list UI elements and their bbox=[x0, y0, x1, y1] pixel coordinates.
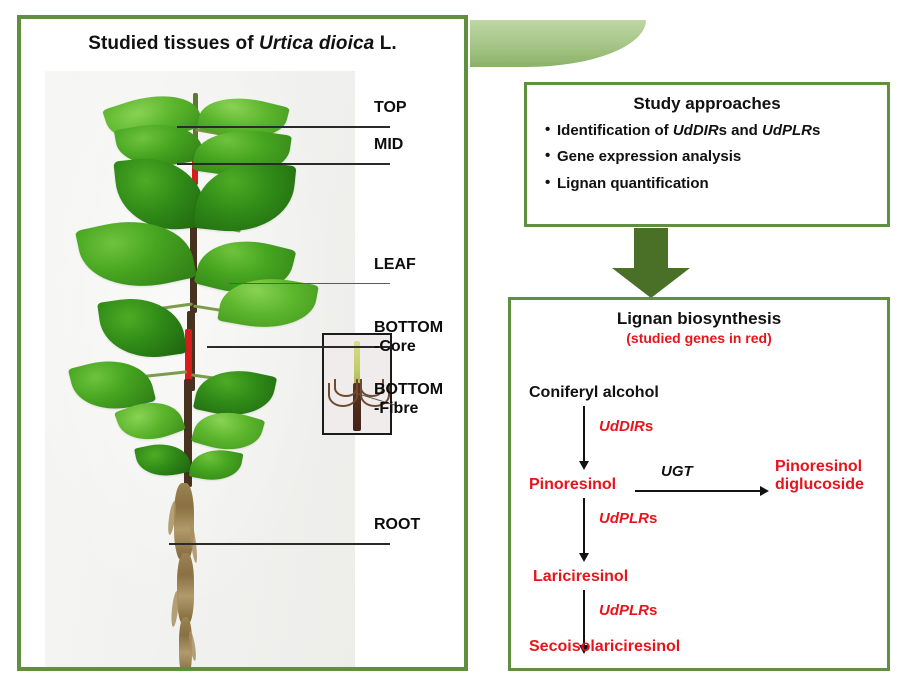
tissue-label-root: ROOT bbox=[374, 516, 420, 535]
leader-line-root bbox=[169, 543, 390, 545]
decorative-green-banner bbox=[470, 20, 646, 67]
bullet-icon: • bbox=[545, 122, 557, 139]
approach-item-gene-expression: • Gene expression analysis bbox=[545, 148, 887, 165]
pathway-node-pinoresinol-diglucoside: Pinoresinol diglucoside bbox=[775, 458, 864, 494]
tissue-label-bottom-fibre: BOTTOM -Fibre bbox=[374, 381, 443, 419]
pathway-node-pinoresinol: Pinoresinol bbox=[529, 476, 616, 494]
lignan-biosynthesis-box: Lignan biosynthesis (studied genes in re… bbox=[508, 297, 890, 671]
root-mid bbox=[177, 553, 194, 625]
pathway-title: Lignan biosynthesis bbox=[511, 309, 887, 329]
study-approaches-box: Study approaches • Identification of UdD… bbox=[524, 82, 890, 227]
enzyme-label-ugt: UGT bbox=[661, 463, 693, 480]
enzyme-label-udplrs-1: UdPLRs bbox=[599, 510, 657, 527]
tissue-label-top: TOP bbox=[374, 99, 407, 118]
approach-item-identification: • Identification of UdDIRs and UdPLRs bbox=[545, 122, 887, 139]
arrow-head bbox=[612, 268, 690, 298]
bullet-icon: • bbox=[545, 175, 557, 192]
page-title: Studied tissues of Urtica dioica L. bbox=[21, 33, 464, 55]
arrow-shaft bbox=[634, 228, 668, 270]
title-prefix: Studied tissues of bbox=[88, 33, 259, 54]
leader-line-top bbox=[177, 126, 390, 128]
leader-line-mid bbox=[177, 163, 390, 165]
title-suffix: L. bbox=[374, 33, 396, 54]
pathway-subtitle: (studied genes in red) bbox=[511, 330, 887, 346]
approach-item-label: Identification of UdDIRs and UdPLRs bbox=[557, 122, 820, 139]
bullet-icon: • bbox=[545, 148, 557, 165]
study-approaches-title: Study approaches bbox=[527, 94, 887, 114]
arrow-pinoresinol-to-lariciresinol bbox=[583, 498, 585, 554]
tissue-label-mid: MID bbox=[374, 136, 403, 155]
leader-line-bottom-core bbox=[207, 346, 391, 348]
approach-item-label: Gene expression analysis bbox=[557, 148, 741, 165]
approach-item-label: Lignan quantification bbox=[557, 175, 709, 192]
tissue-label-leaf: LEAF bbox=[374, 256, 416, 275]
title-species: Urtica dioica bbox=[259, 33, 374, 54]
pathway-node-secoisolariciresinol: Secoisolariciresinol bbox=[529, 638, 680, 656]
enzyme-label-udplrs-2: UdPLRs bbox=[599, 602, 657, 619]
nettle-plant-photo bbox=[45, 71, 355, 667]
pathway-node-lariciresinol: Lariciresinol bbox=[533, 568, 628, 586]
leader-line-leaf bbox=[229, 283, 390, 284]
arrow-coniferyl-to-pinoresinol bbox=[583, 406, 585, 462]
tissue-label-bottom-core: BOTTOM -Core bbox=[374, 319, 443, 357]
enzyme-label-uddirs-1: UdDIRs bbox=[599, 418, 653, 435]
fibre-strip-3 bbox=[328, 383, 358, 407]
arrow-pinoresinol-to-diglucoside bbox=[635, 490, 761, 492]
approach-item-lignan-quantification: • Lignan quantification bbox=[545, 175, 887, 192]
pathway-node-coniferyl-alcohol: Coniferyl alcohol bbox=[529, 384, 659, 402]
down-block-arrow-icon bbox=[612, 228, 690, 298]
